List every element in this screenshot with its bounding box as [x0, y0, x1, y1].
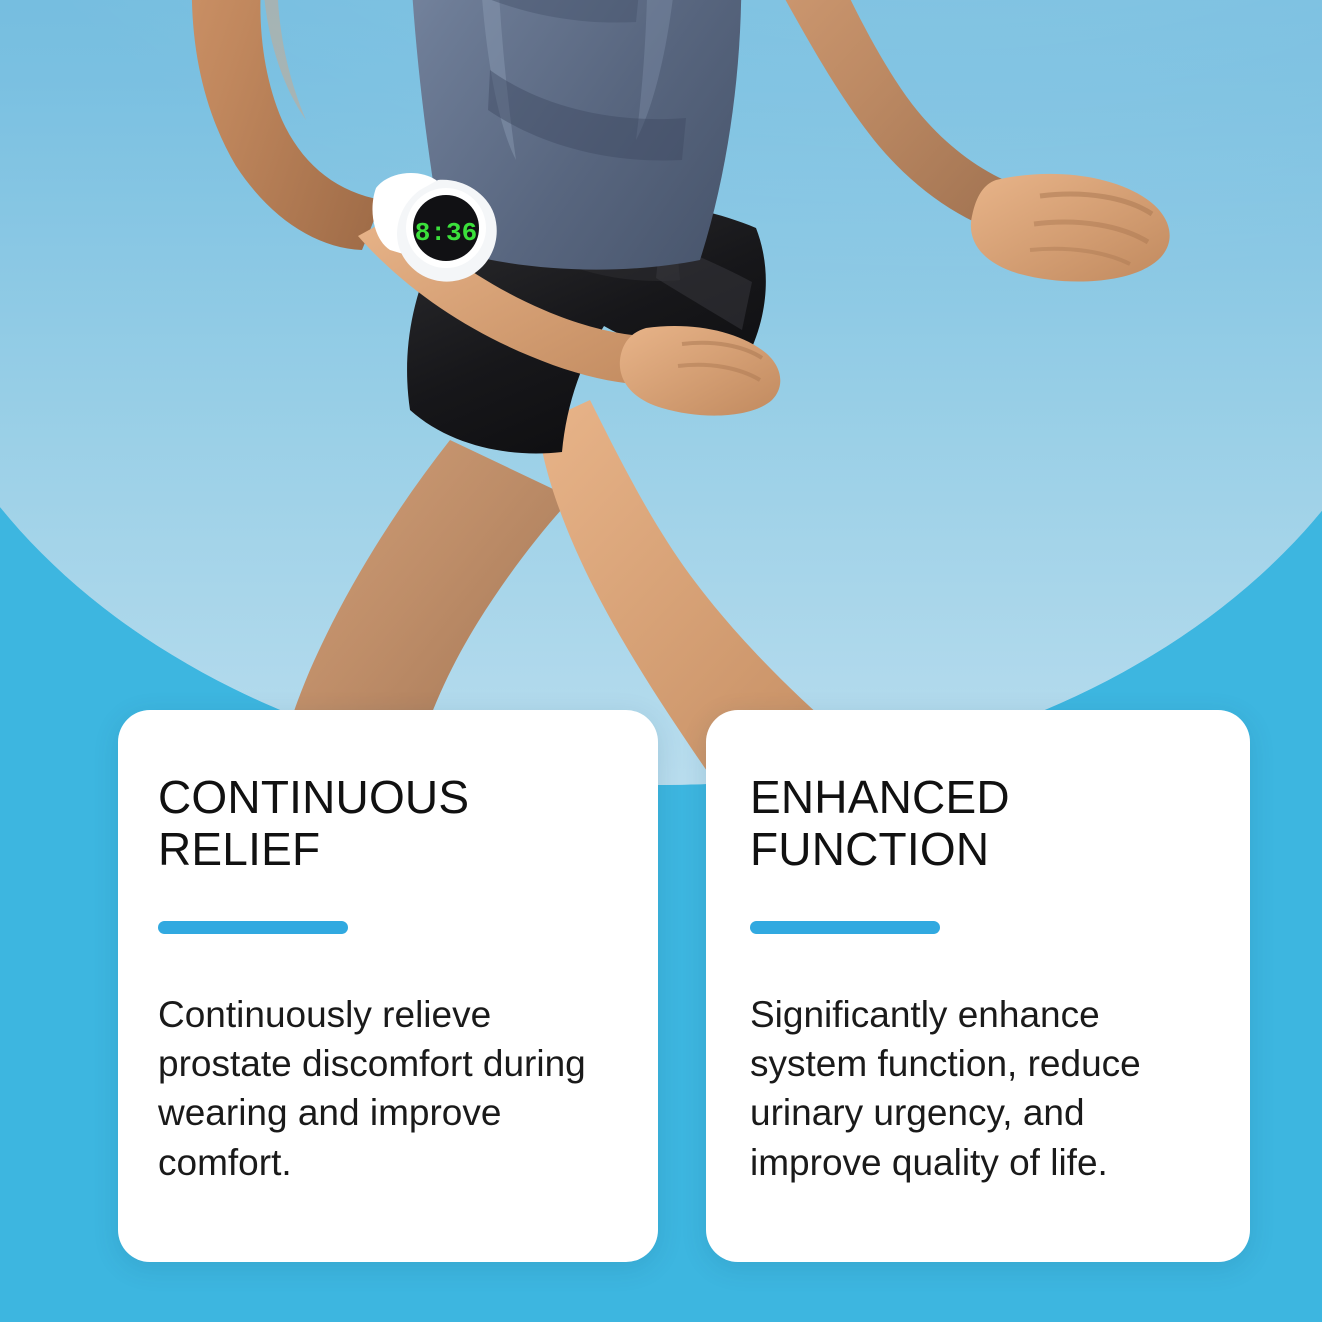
- feature-card-continuous-relief[interactable]: CONTINUOUS RELIEF Continuously relieve p…: [118, 710, 658, 1262]
- runner-photo: 8:36: [0, 0, 1322, 785]
- feature-card-list: CONTINUOUS RELIEF Continuously relieve p…: [118, 710, 1250, 1262]
- card-body-text: Continuously relieve prostate discomfort…: [158, 990, 614, 1187]
- feature-card-enhanced-function[interactable]: ENHANCED FUNCTION Significantly enhance …: [706, 710, 1250, 1262]
- card-body-text: Significantly enhance system function, r…: [750, 990, 1206, 1187]
- card-title: ENHANCED FUNCTION: [750, 772, 1206, 875]
- card-divider: [158, 921, 348, 934]
- card-title: CONTINUOUS RELIEF: [158, 772, 614, 875]
- card-divider: [750, 921, 940, 934]
- promo-banner: 8:36 CONTINUOUS RELIEF Continuously reli…: [0, 0, 1322, 1322]
- hero-photo-panel: 8:36: [0, 0, 1322, 785]
- svg-text:8:36: 8:36: [415, 218, 477, 248]
